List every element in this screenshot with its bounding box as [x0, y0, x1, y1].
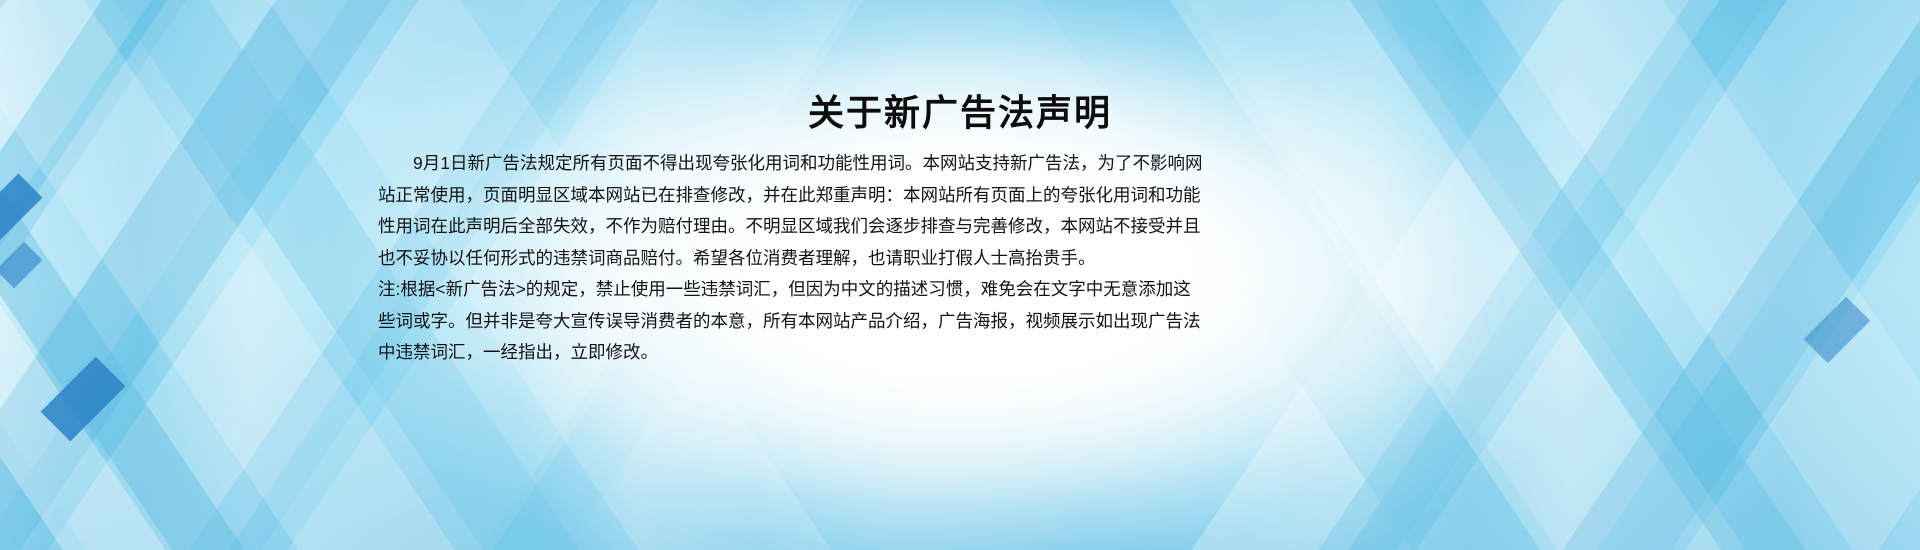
statement-line: 站正常使用，页面明显区域本网站已在排查修改，并在此郑重声明：本网站所有页面上的夸…	[378, 185, 1201, 205]
statement-paragraph-2: 注:根据<新广告法>的规定，禁止使用一些违禁词汇，但因为中文的描述习惯，难免会在…	[378, 274, 1178, 369]
statement-paragraph-1: 9月1日新广告法规定所有页面不得出现夸张化用词和功能性用词。本网站支持新广告法，…	[378, 148, 1178, 274]
advertising-law-statement-banner: 关于新广告法声明 9月1日新广告法规定所有页面不得出现夸张化用词和功能性用词。本…	[0, 0, 1920, 550]
statement-body: 9月1日新广告法规定所有页面不得出现夸张化用词和功能性用词。本网站支持新广告法，…	[378, 148, 1178, 369]
statement-line: 些词或字。但并非是夸大宣传误导消费者的本意，所有本网站产品介绍，广告海报，视频展…	[378, 311, 1201, 331]
page-title: 关于新广告法声明	[0, 84, 1920, 136]
statement-line: 9月1日新广告法规定所有页面不得出现夸张化用词和功能性用词。本网站支持新广告法，…	[413, 153, 1202, 173]
statement-line: 也不妥协以任何形式的违禁词商品赔付。希望各位消费者理解，也请职业打假人士高抬贵手…	[378, 248, 1096, 268]
statement-content: 关于新广告法声明 9月1日新广告法规定所有页面不得出现夸张化用词和功能性用词。本…	[0, 0, 1920, 550]
statement-line: 性用词在此声明后全部失效，不作为赔付理由。不明显区域我们会逐步排查与完善修改，本…	[378, 216, 1201, 236]
statement-line: 注:根据<新广告法>的规定，禁止使用一些违禁词汇，但因为中文的描述习惯，难免会在…	[378, 279, 1191, 299]
statement-line: 中违禁词汇，一经指出，立即修改。	[378, 342, 658, 362]
